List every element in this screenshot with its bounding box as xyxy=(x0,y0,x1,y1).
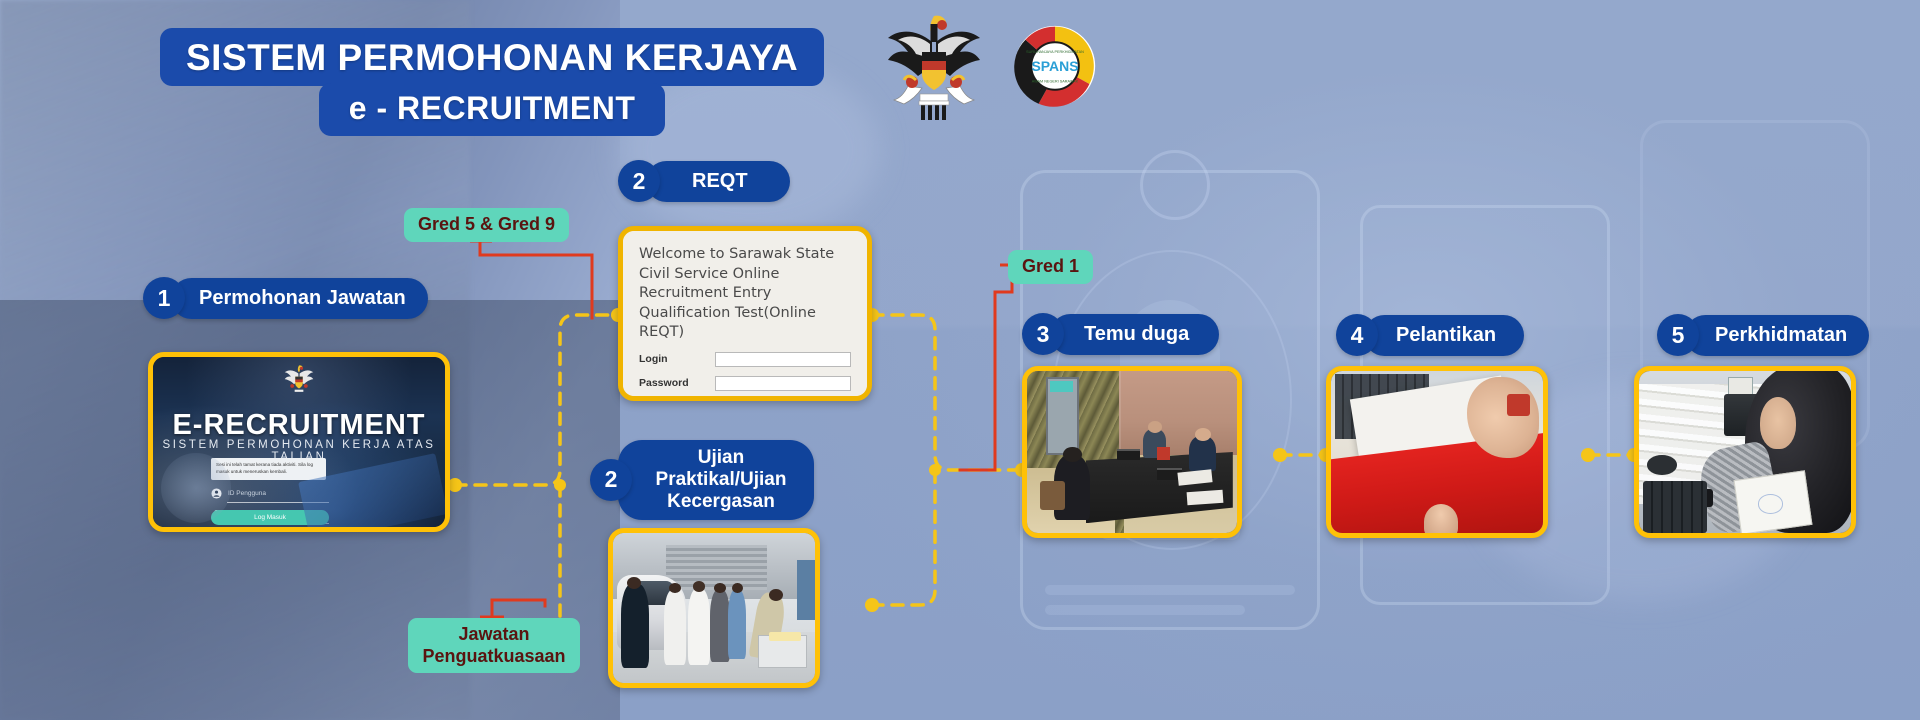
reqt-login-input[interactable] xyxy=(715,352,851,367)
tag-gred-1: Gred 1 xyxy=(1008,250,1093,284)
office-service-photo-card[interactable] xyxy=(1634,366,1856,538)
step-3-label: Temu duga xyxy=(1050,314,1219,355)
step-2-ujian-praktikal[interactable]: 2 Ujian Praktikal/Ujian Kecergasan xyxy=(590,440,814,520)
practical-officer-head xyxy=(769,589,783,601)
erecruitment-screenshot-card[interactable]: E-RECRUITMENT SISTEM PERMOHONAN KERJA AT… xyxy=(148,352,450,532)
practical-person xyxy=(728,590,746,659)
practical-person xyxy=(621,584,649,668)
interview-flag xyxy=(1157,447,1170,460)
step-1-number: 1 xyxy=(143,277,185,319)
step-5-label: Perkhidmatan xyxy=(1685,315,1869,356)
interview-screen-content xyxy=(1050,381,1073,392)
title-line-2: e - RECRUITMENT xyxy=(319,83,666,136)
erecruitment-crest-icon xyxy=(280,363,318,399)
interview-laptop xyxy=(1117,449,1140,460)
reqt-password-label: Password xyxy=(639,377,715,389)
offer-hand-gap xyxy=(1507,394,1530,417)
office-staff-face xyxy=(1760,397,1796,449)
tag-jawatan-line-1: Jawatan Penguatkuasaan xyxy=(422,624,565,666)
practical-test-photo-card[interactable] xyxy=(608,528,820,688)
sarawak-coat-of-arms-icon xyxy=(880,8,988,124)
title-line-1: SISTEM PERMOHONAN KERJAYA xyxy=(160,28,824,86)
reqt-card-body: Welcome to Sarawak State Civil Service O… xyxy=(623,231,867,401)
office-keyboard xyxy=(1643,481,1707,533)
erecruitment-title: E-RECRUITMENT xyxy=(153,409,445,442)
office-mouse xyxy=(1647,455,1677,474)
interview-panelist xyxy=(1189,436,1216,472)
step-4-pelantikan[interactable]: 4 Pelantikan xyxy=(1336,314,1524,356)
office-document-stamp xyxy=(1758,494,1783,513)
step-2-reqt-label: REQT xyxy=(646,161,790,202)
svg-text:SURUHANJAYA PERKHIDMATAN: SURUHANJAYA PERKHIDMATAN xyxy=(1026,50,1084,54)
step-2-reqt[interactable]: 2 REQT xyxy=(618,160,790,202)
step-2-reqt-number: 2 xyxy=(618,160,660,202)
ghost-bar-2 xyxy=(1045,605,1245,615)
reqt-heading: Welcome to Sarawak State Civil Service O… xyxy=(639,245,851,343)
interview-photo xyxy=(1027,371,1237,533)
step-3-temu-duga[interactable]: 3 Temu duga xyxy=(1022,313,1219,355)
interview-photo-card[interactable] xyxy=(1022,366,1242,538)
ghost-bar-1 xyxy=(1045,585,1295,595)
practical-documents xyxy=(769,632,801,641)
practical-bg-person xyxy=(797,560,815,620)
infographic-canvas: SISTEM PERMOHONAN KERJAYA e - RECRUITMEN… xyxy=(0,0,1920,720)
offer-thumb xyxy=(1424,504,1458,538)
practical-person xyxy=(688,589,710,666)
step-1-label: Permohonan Jawatan xyxy=(171,278,428,319)
reqt-login-row[interactable]: Login xyxy=(639,352,851,367)
tag-gred-5-9: Gred 5 & Gred 9 xyxy=(404,208,569,242)
interview-chair xyxy=(1040,481,1065,510)
reqt-login-label: Login xyxy=(639,353,715,365)
step-2-ujian-number: 2 xyxy=(590,459,632,501)
step-2-ujian-label: Ujian Praktikal/Ujian Kecergasan xyxy=(618,440,814,520)
interview-panelist-head xyxy=(1195,428,1211,441)
interview-documents xyxy=(1186,490,1223,505)
interview-candidate-head xyxy=(1063,447,1082,462)
reqt-password-input[interactable] xyxy=(715,376,851,391)
step-4-label: Pelantikan xyxy=(1364,315,1524,356)
job-offer-letter-card[interactable]: RE: LETTER OF OFFER OF EMPLOYMENT JOB OF… xyxy=(1326,366,1548,538)
erecruitment-bg: E-RECRUITMENT SISTEM PERMOHONAN KERJA AT… xyxy=(153,357,445,527)
practical-test-photo xyxy=(613,533,815,683)
tag-jawatan-penguatkuasaan: Jawatan Penguatkuasaan xyxy=(408,618,580,673)
step-4-number: 4 xyxy=(1336,314,1378,356)
reqt-login-card[interactable]: Welcome to Sarawak State Civil Service O… xyxy=(618,226,872,401)
practical-person-head xyxy=(669,583,681,594)
practical-person-head xyxy=(627,577,641,589)
page-title: SISTEM PERMOHONAN KERJAYA e - RECRUITMEN… xyxy=(160,28,824,136)
step-1-permohonan-jawatan[interactable]: 1 Permohonan Jawatan xyxy=(143,277,428,319)
interview-wall-panel xyxy=(1119,371,1237,455)
practical-person-head xyxy=(714,583,726,594)
practical-person xyxy=(710,590,730,662)
spans-logo-icon: SPANS SURUHANJAYA PERKHIDMATAN AWAM NEGE… xyxy=(1014,25,1096,107)
step-5-perkhidmatan[interactable]: 5 Perkhidmatan xyxy=(1657,314,1869,356)
step-5-number: 5 xyxy=(1657,314,1699,356)
ghost-circle-2 xyxy=(1140,150,1210,220)
practical-person xyxy=(664,590,686,665)
erecruitment-user-placeholder: ID Pengguna xyxy=(228,490,266,497)
practical-person-head xyxy=(693,581,705,592)
job-offer-photo: RE: LETTER OF OFFER OF EMPLOYMENT JOB OF… xyxy=(1331,371,1543,533)
svg-text:AWAM NEGERI SARAWAK: AWAM NEGERI SARAWAK xyxy=(1032,79,1079,83)
spans-logo-text: SPANS xyxy=(1032,58,1079,74)
erecruitment-photo-hand xyxy=(161,453,231,523)
step-3-number: 3 xyxy=(1022,313,1064,355)
office-service-photo xyxy=(1639,371,1851,533)
logo-group: SPANS SURUHANJAYA PERKHIDMATAN AWAM NEGE… xyxy=(880,8,1096,124)
reqt-password-row[interactable]: Password xyxy=(639,376,851,391)
